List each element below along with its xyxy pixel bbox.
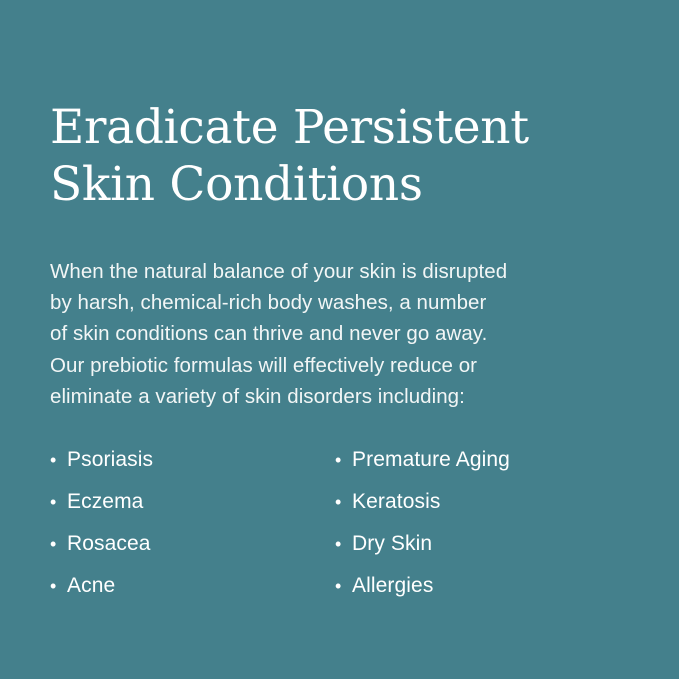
list-item: • Premature Aging <box>335 449 510 491</box>
list-item: • Keratosis <box>335 491 510 533</box>
list-item: • Dry Skin <box>335 533 510 575</box>
list-item-label: Premature Aging <box>352 449 510 470</box>
list-item: • Allergies <box>335 575 510 617</box>
list-item-label: Rosacea <box>67 533 151 554</box>
conditions-list-left: • Psoriasis • Eczema • Rosacea • Acne <box>50 449 335 617</box>
list-item-label: Keratosis <box>352 491 440 512</box>
list-item: • Acne <box>50 575 335 617</box>
promo-card: Eradicate Persistent Skin Conditions Whe… <box>0 0 679 679</box>
list-item-label: Psoriasis <box>67 449 153 470</box>
bullet-icon: • <box>50 493 67 511</box>
page-title: Eradicate Persistent Skin Conditions <box>50 100 629 214</box>
bullet-icon: • <box>50 535 67 553</box>
bullet-icon: • <box>335 535 352 553</box>
list-item: • Psoriasis <box>50 449 335 491</box>
bullet-icon: • <box>335 577 352 595</box>
conditions-list-right: • Premature Aging • Keratosis • Dry Skin… <box>335 449 510 617</box>
list-item-label: Dry Skin <box>352 533 432 554</box>
list-item-label: Acne <box>67 575 115 596</box>
list-item: • Eczema <box>50 491 335 533</box>
bullet-icon: • <box>335 451 352 469</box>
bullet-icon: • <box>50 451 67 469</box>
list-item: • Rosacea <box>50 533 335 575</box>
body-paragraph: When the natural balance of your skin is… <box>50 256 629 413</box>
conditions-lists: • Psoriasis • Eczema • Rosacea • Acne <box>50 449 629 617</box>
bullet-icon: • <box>335 493 352 511</box>
bullet-icon: • <box>50 577 67 595</box>
list-item-label: Allergies <box>352 575 433 596</box>
list-item-label: Eczema <box>67 491 143 512</box>
card-content: Eradicate Persistent Skin Conditions Whe… <box>50 100 629 617</box>
